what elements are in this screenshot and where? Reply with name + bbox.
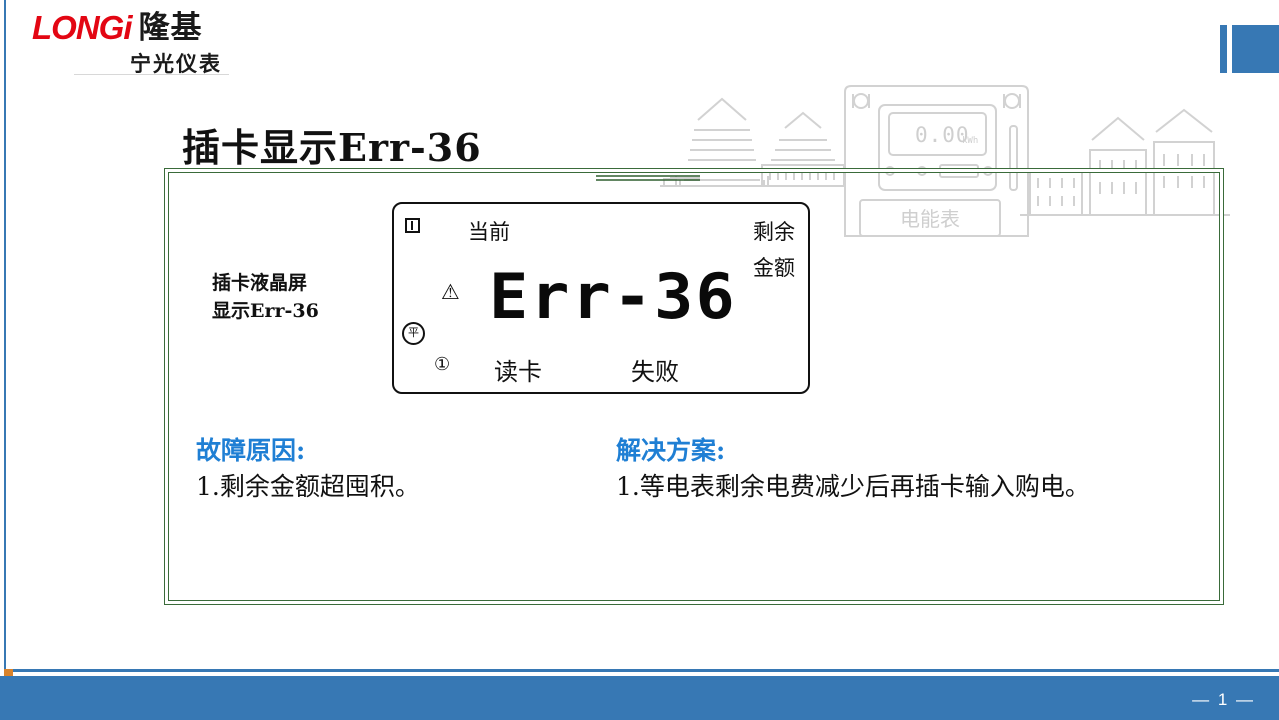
logo-primary-row: LONGi 隆基 [32,11,222,44]
lcd-label-read-card: 读卡 [494,352,542,387]
left-edge-accent [4,0,6,676]
cause-column: 故障原因: 1.剩余金额超囤积。 [196,436,596,502]
logo-latin-text: LONGi [32,11,132,44]
lcd-error-code: Err-36 [489,266,737,328]
logo-chinese-text: 隆基 [139,13,203,44]
meter-reading-text: 0.00 [915,123,970,147]
logo-underline [74,74,229,75]
lcd-caption-line1: 插卡液晶屏 [212,270,372,298]
lcd-caption: 插卡液晶屏 显示Err-36 [212,270,372,325]
footer-bar [0,676,1279,720]
cause-heading: 故障原因: [196,436,596,466]
meter-number-icon [405,218,420,233]
page-number: — 1 — [1192,690,1255,710]
solution-item-1: 1.等电表剩余电费减少后再插卡输入购电。 [616,472,1226,502]
cause-item-1: 1.剩余金额超囤积。 [196,472,596,502]
page-title: 插卡显示Err-36 [182,117,482,172]
footer-rule [5,669,1279,672]
brand-logo: LONGi 隆基 宁光仪表 [32,11,222,83]
lcd-label-failure: 失败 [631,352,679,387]
solution-column: 解决方案: 1.等电表剩余电费减少后再插卡输入购电。 [616,436,1226,502]
lcd-display-panel: 当前 剩余 金额 ⚠ 平 ① Err-36 读卡 失败 [392,202,810,394]
circled-one-icon: ① [434,356,450,374]
warning-triangle-icon: ⚠ [441,282,460,303]
lcd-label-remaining: 剩余 [753,216,795,246]
slide: 0.00 kWh 电能表 LONGi 隆基 宁光仪表 插卡显示Err-36 插卡… [0,0,1279,720]
meter-unit-text: kWh [962,136,978,146]
solution-heading: 解决方案: [616,436,1226,466]
footer-accent-square [4,669,13,676]
flat-rate-circle-icon: 平 [402,322,425,345]
lcd-label-amount: 金额 [753,252,795,282]
topright-thin-bar [1220,25,1227,73]
topright-block [1232,25,1279,73]
lcd-caption-line2: 显示Err-36 [212,298,372,326]
lcd-label-current: 当前 [468,216,510,246]
